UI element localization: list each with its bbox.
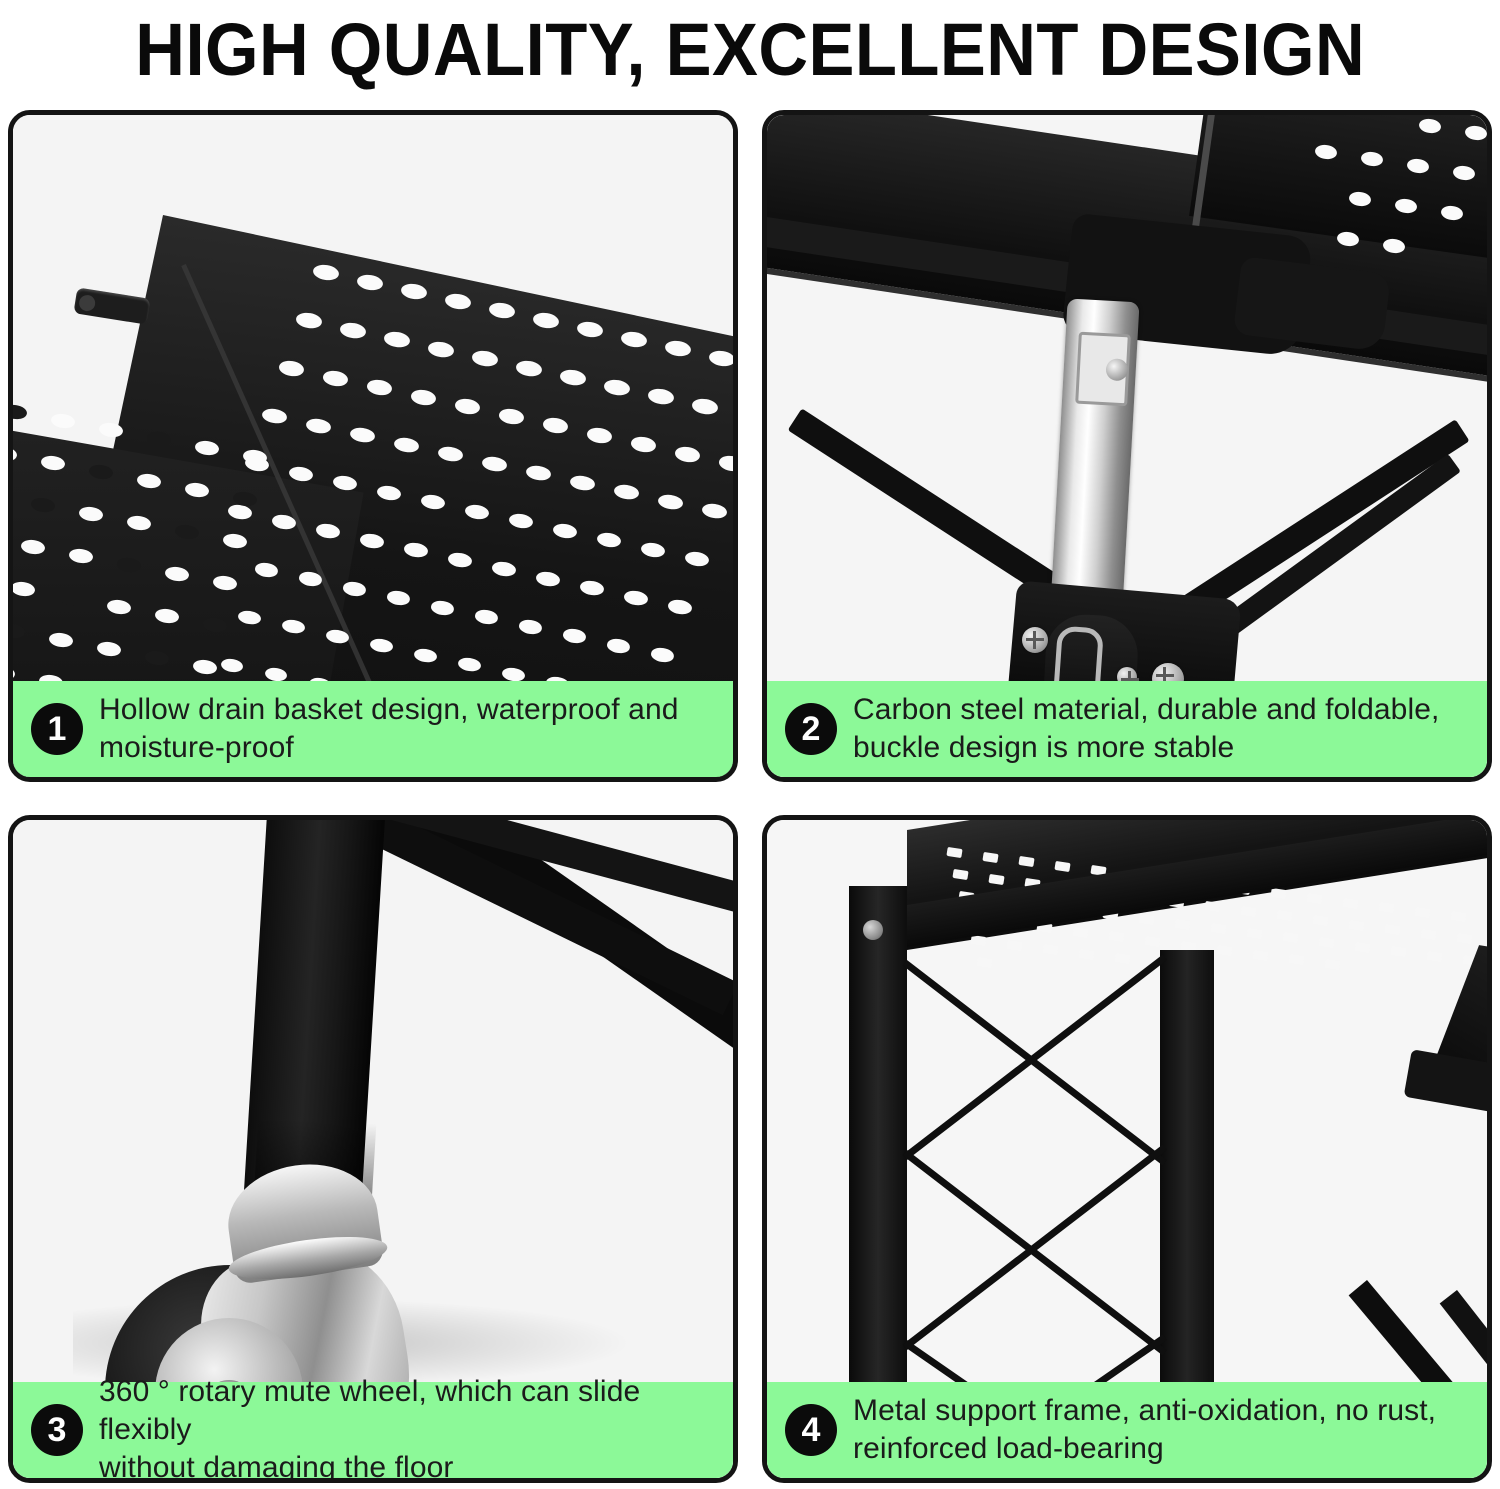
caption-line-4a: Metal support frame, anti-oxidation, no … xyxy=(853,1394,1436,1427)
caption-text-2: Carbon steel material, durable and folda… xyxy=(853,691,1439,767)
product-photo-support-frame xyxy=(767,820,1487,1478)
caption-bar-4: 4 Metal support frame, anti-oxidation, n… xyxy=(767,1382,1487,1478)
caption-badge-1: 1 xyxy=(31,703,83,755)
screw-icon xyxy=(863,920,883,940)
caption-line-4b: reinforced load-bearing xyxy=(853,1432,1164,1465)
caption-bar-3: 3 360 ° rotary mute wheel, which can sli… xyxy=(13,1382,733,1478)
caption-line-1b: moisture-proof xyxy=(99,731,294,764)
feature-panel-4: 4 Metal support frame, anti-oxidation, n… xyxy=(762,815,1492,1483)
feature-panel-1: 1 Hollow drain basket design, waterproof… xyxy=(8,110,738,782)
caption-line-3b: without damaging the floor xyxy=(99,1451,454,1483)
caption-bar-2: 2 Carbon steel material, durable and fol… xyxy=(767,681,1487,777)
product-photo-buckle xyxy=(767,115,1487,777)
caption-badge-4: 4 xyxy=(785,1404,837,1456)
caption-line-3a: 360 ° rotary mute wheel, which can slide… xyxy=(99,1375,640,1446)
caption-line-2a: Carbon steel material, durable and folda… xyxy=(853,693,1439,726)
feature-panel-2: 2 Carbon steel material, durable and fol… xyxy=(762,110,1492,782)
caption-line-1a: Hollow drain basket design, waterproof a… xyxy=(99,693,679,726)
caption-text-4: Metal support frame, anti-oxidation, no … xyxy=(853,1392,1436,1468)
feature-panel-3: 3 360 ° rotary mute wheel, which can sli… xyxy=(8,815,738,1483)
feature-panel-grid: 1 Hollow drain basket design, waterproof… xyxy=(0,0,1500,1489)
screw-icon xyxy=(1022,627,1048,653)
caption-badge-2: 2 xyxy=(785,703,837,755)
caption-text-1: Hollow drain basket design, waterproof a… xyxy=(99,691,679,767)
product-photo-drain-basket xyxy=(13,115,733,777)
caption-bar-1: 1 Hollow drain basket design, waterproof… xyxy=(13,681,733,777)
caption-badge-3: 3 xyxy=(31,1404,83,1456)
chrome-tube-slot xyxy=(1075,332,1131,407)
caption-line-2b: buckle design is more stable xyxy=(853,731,1234,764)
caption-text-3: 360 ° rotary mute wheel, which can slide… xyxy=(99,1373,719,1483)
